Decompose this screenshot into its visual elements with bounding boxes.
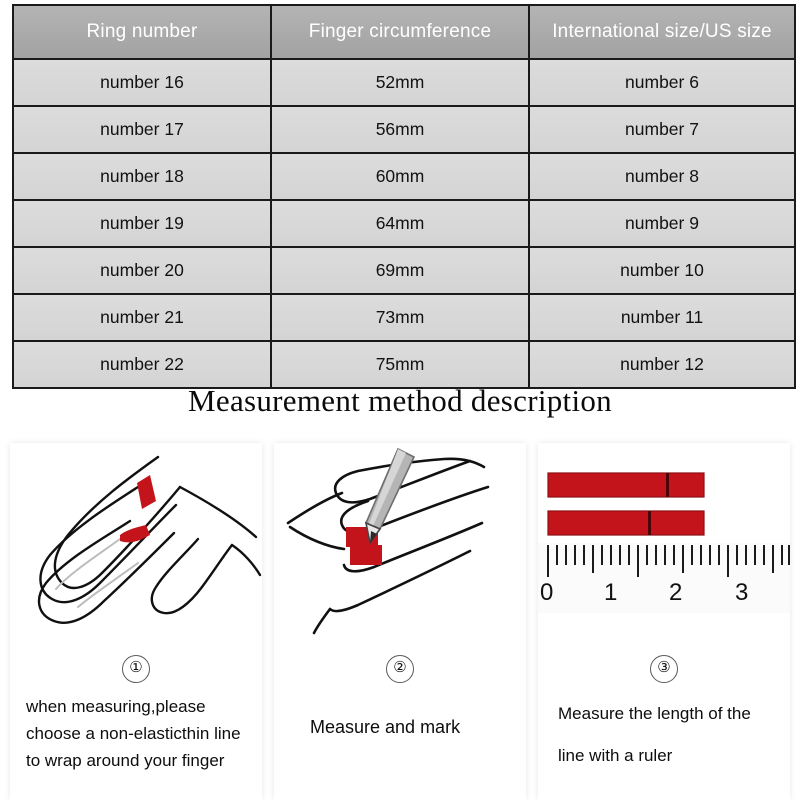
step-number-badge-2: ② — [386, 655, 414, 683]
cell-intl-size: number 8 — [529, 153, 795, 200]
cell-ring-number: number 22 — [13, 341, 271, 388]
cell-ring-number: number 19 — [13, 200, 271, 247]
cell-intl-size: number 11 — [529, 294, 795, 341]
cell-circumference: 73mm — [271, 294, 529, 341]
hand-thread-svg — [10, 443, 262, 643]
cell-circumference: 56mm — [271, 106, 529, 153]
ring-size-table: Ring number Finger circumference Interna… — [12, 4, 796, 389]
table-header: Ring number Finger circumference Interna… — [13, 5, 795, 59]
section-title: Measurement method description — [0, 383, 800, 419]
step-number-badge-3: ③ — [650, 655, 678, 683]
table-row: number 21 73mm number 11 — [13, 294, 795, 341]
measurement-steps: ① when measuring,please choose a non-ela… — [0, 443, 800, 800]
cell-circumference: 69mm — [271, 247, 529, 294]
step-caption-text-1: when measuring,please choose a non-elast… — [16, 693, 256, 774]
step-caption-1: ① when measuring,please choose a non-ela… — [10, 643, 262, 800]
cell-circumference: 64mm — [271, 200, 529, 247]
cell-circumference: 60mm — [271, 153, 529, 200]
ruler-label-3: 3 — [735, 579, 748, 607]
table-header-row: Ring number Finger circumference Interna… — [13, 5, 795, 59]
table-row: number 18 60mm number 8 — [13, 153, 795, 200]
cell-ring-number: number 18 — [13, 153, 271, 200]
ruler-label-0: 0 — [540, 579, 553, 607]
step-caption-text-3: Measure the length of the line with a ru… — [544, 693, 784, 777]
cell-circumference: 75mm — [271, 341, 529, 388]
red-strips-with-ruler-illustration: 0 1 2 3 — [538, 443, 790, 643]
step-caption-3: ③ Measure the length of the line with a … — [538, 643, 790, 800]
step-panel-2: ② Measure and mark — [274, 443, 526, 800]
table-row: number 19 64mm number 9 — [13, 200, 795, 247]
hand-pencil-svg — [274, 443, 526, 643]
step-panel-1: ① when measuring,please choose a non-ela… — [10, 443, 262, 800]
cell-intl-size: number 12 — [529, 341, 795, 388]
step-number-badge-1: ① — [122, 655, 150, 683]
table-row: number 22 75mm number 12 — [13, 341, 795, 388]
table-row: number 16 52mm number 6 — [13, 59, 795, 106]
hand-with-pencil-illustration — [274, 443, 526, 643]
cell-intl-size: number 9 — [529, 200, 795, 247]
step-caption-text-2: Measure and mark — [280, 693, 520, 740]
step-caption-2: ② Measure and mark — [274, 643, 526, 800]
cell-ring-number: number 17 — [13, 106, 271, 153]
red-strip-upper — [548, 473, 704, 497]
cell-intl-size: number 7 — [529, 106, 795, 153]
cell-ring-number: number 21 — [13, 294, 271, 341]
column-header-ring-number: Ring number — [13, 5, 271, 59]
ruler-label-2: 2 — [669, 579, 682, 607]
red-strip-lower — [548, 511, 704, 535]
step-panel-3: 0 1 2 3 ③ Measure the length of the line… — [538, 443, 790, 800]
column-header-international-size: International size/US size — [529, 5, 795, 59]
column-header-finger-circumference: Finger circumference — [271, 5, 529, 59]
cell-ring-number: number 16 — [13, 59, 271, 106]
table-row: number 20 69mm number 10 — [13, 247, 795, 294]
cell-ring-number: number 20 — [13, 247, 271, 294]
cell-intl-size: number 10 — [529, 247, 795, 294]
ruler-label-1: 1 — [604, 579, 617, 607]
hand-with-thread-illustration — [10, 443, 262, 643]
ruler-svg — [538, 443, 790, 643]
table-row: number 17 56mm number 7 — [13, 106, 795, 153]
table-body: number 16 52mm number 6 number 17 56mm n… — [13, 59, 795, 388]
cell-intl-size: number 6 — [529, 59, 795, 106]
cell-circumference: 52mm — [271, 59, 529, 106]
